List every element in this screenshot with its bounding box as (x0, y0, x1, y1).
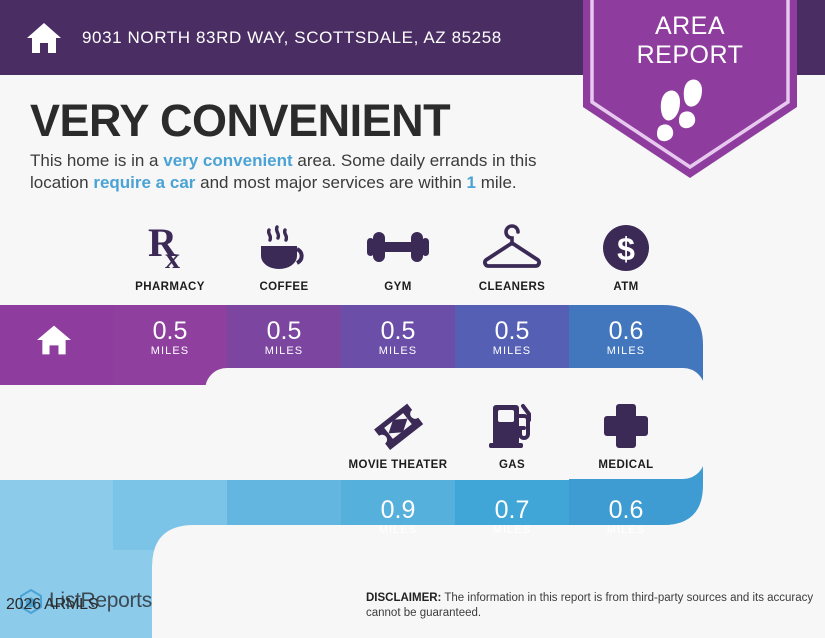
disclaimer-label: DISCLAIMER: (366, 592, 441, 604)
service-coffee: COFFEE (227, 224, 341, 293)
service-medical: MEDICAL (569, 402, 683, 471)
dumbbell-icon (367, 224, 429, 272)
service-cleaners: CLEANERS (455, 224, 569, 293)
summary-highlight-2: require a car (93, 173, 195, 192)
disclaimer: DISCLAIMER: The information in this repo… (366, 591, 818, 621)
gas-pump-icon (487, 402, 537, 450)
summary-part-4: mile. (476, 173, 517, 192)
service-label: CLEANERS (479, 281, 545, 293)
service-pharmacy: R x PHARMACY (113, 224, 227, 293)
medical-cross-icon (602, 402, 650, 450)
summary-part-3: and most major services are within (195, 173, 466, 192)
bar-segment-row2-left-b (113, 480, 227, 550)
badge-text: AREA REPORT (583, 12, 797, 70)
service-label: GYM (384, 281, 411, 293)
area-report-badge: AREA REPORT (583, 0, 797, 178)
svg-text:x: x (165, 242, 180, 272)
home-icon (24, 18, 64, 58)
summary-highlight-1: very convenient (163, 151, 292, 170)
svg-text:$: $ (617, 231, 635, 267)
badge-line-1: AREA (583, 12, 797, 41)
service-gym: GYM (341, 224, 455, 293)
property-address: 9031 NORTH 83RD WAY, SCOTTSDALE, AZ 8525… (82, 28, 502, 48)
service-label: ATM (613, 281, 638, 293)
service-label: PHARMACY (135, 281, 205, 293)
summary-text: This home is in a very convenient area. … (30, 150, 590, 194)
service-atm: $ ATM (569, 224, 683, 293)
prescription-rx-icon: R x (147, 224, 193, 272)
clothes-hanger-icon (477, 224, 547, 272)
home-marker-icon (36, 323, 72, 357)
bar-segment-gas (455, 480, 569, 550)
bar-segment-medical (569, 480, 683, 550)
mls-credit: 2026 ARMLS (6, 596, 98, 614)
bar-segment-movie (341, 480, 455, 550)
bar-segment-pharmacy (113, 295, 227, 385)
service-label: MEDICAL (598, 459, 653, 471)
badge-line-2: REPORT (583, 41, 797, 70)
page-title: VERY CONVENIENT (30, 95, 450, 147)
summary-highlight-3: 1 (467, 173, 476, 192)
bar-segment-row2-left-c (0, 480, 113, 550)
dollar-circle-icon: $ (602, 224, 650, 272)
movie-ticket-icon (372, 402, 424, 450)
service-gas: GAS (455, 402, 569, 471)
bar-segment-row2-left-a (227, 480, 341, 550)
service-movie-theater: MOVIE THEATER (341, 402, 455, 471)
summary-part-1: This home is in a (30, 151, 163, 170)
service-label: COFFEE (259, 281, 308, 293)
coffee-cup-icon (257, 224, 311, 272)
service-label: MOVIE THEATER (349, 459, 448, 471)
service-label: GAS (499, 459, 525, 471)
